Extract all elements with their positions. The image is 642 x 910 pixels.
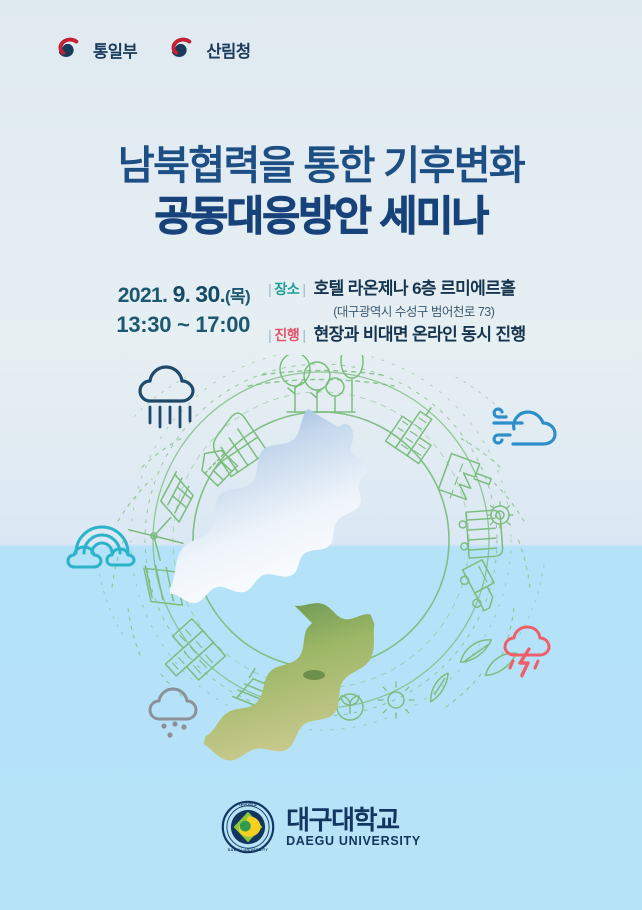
place-value: 호텔 라온제나 6층 르미에르홀 bbox=[314, 278, 516, 300]
wind-cloud-icon bbox=[494, 409, 555, 444]
event-datetime: 2021. 9. 30.(목) 13:30 ~ 17:00 bbox=[116, 278, 250, 339]
korea-government-taeguk-icon bbox=[52, 34, 84, 66]
title-line-2: 공동대응방안 세미나 bbox=[0, 192, 642, 240]
mode-tag: |진행| bbox=[268, 326, 305, 344]
event-location-block: |장소| 호텔 라온제나 6층 르미에르홀 (대구광역시 수성구 범어천로 73… bbox=[268, 278, 525, 346]
svg-text:대구대학교: 대구대학교 bbox=[239, 802, 257, 807]
date-day: 30 bbox=[195, 281, 219, 307]
date-month: 9 bbox=[173, 281, 185, 307]
mode-tag-label: 진행 bbox=[274, 326, 299, 344]
agency-label: 산림청 bbox=[206, 38, 250, 62]
event-info: 2021. 9. 30.(목) 13:30 ~ 17:00 |장소| 호텔 라온… bbox=[0, 278, 642, 346]
university-name-ko: 대구대학교 bbox=[286, 805, 399, 835]
daegu-university-seal-icon: 대구대학교 DAEGU UNIVERSITY bbox=[221, 800, 275, 854]
south-korea-region bbox=[204, 603, 375, 760]
tag-bar-right: | bbox=[302, 280, 305, 298]
place-address: (대구광역시 수성구 범어천로 73) bbox=[268, 301, 525, 320]
mode-row: |진행| 현장과 비대면 온라인 동시 진행 bbox=[268, 324, 525, 346]
mode-value: 현장과 비대면 온라인 동시 진행 bbox=[314, 324, 526, 346]
event-date: 2021. 9. 30.(목) bbox=[116, 279, 250, 310]
place-tag: |장소| bbox=[268, 280, 305, 298]
climate-illustration bbox=[0, 355, 642, 775]
university-branding: 대구대학교 DAEGU UNIVERSITY 대구대학교 DAEGU UNIVE… bbox=[0, 800, 642, 854]
event-time: 13:30 ~ 17:00 bbox=[116, 310, 250, 339]
north-korea-region bbox=[170, 409, 368, 603]
date-weekday: (목) bbox=[225, 287, 250, 306]
tag-bar-right: | bbox=[302, 326, 305, 344]
place-row: |장소| 호텔 라온제나 6층 르미에르홀 bbox=[268, 278, 525, 300]
title-line-1: 남북협력을 통한 기후변화 bbox=[0, 143, 642, 189]
tag-bar-left: | bbox=[268, 280, 271, 298]
tag-bar-left: | bbox=[268, 326, 271, 344]
dust-cloud-icon bbox=[150, 689, 196, 738]
agency-logo-forest-service: 산림청 bbox=[165, 34, 250, 66]
place-tag-label: 장소 bbox=[274, 280, 299, 298]
rain-cloud-icon bbox=[140, 367, 193, 427]
poster-title: 남북협력을 통한 기후변화 공동대응방안 세미나 bbox=[0, 143, 642, 240]
jeju-island bbox=[303, 670, 325, 680]
korean-peninsula-map bbox=[170, 409, 374, 760]
svg-text:DAEGU UNIVERSITY: DAEGU UNIVERSITY bbox=[228, 848, 269, 852]
university-name-block: 대구대학교 DAEGU UNIVERSITY bbox=[286, 807, 421, 848]
rainbow-cloud-icon bbox=[68, 527, 134, 567]
university-name-en: DAEGU UNIVERSITY bbox=[286, 835, 421, 848]
agency-logo-unification: 통일부 bbox=[52, 34, 137, 66]
korea-government-taeguk-icon bbox=[165, 34, 197, 66]
agency-label: 통일부 bbox=[93, 38, 137, 62]
date-year: 2021. bbox=[118, 284, 168, 307]
poster-canvas: 통일부 산림청 남북협력을 통한 기후변화 공동대응방안 세미나 2021. 9… bbox=[0, 0, 642, 910]
date-sep-1: . bbox=[185, 284, 190, 307]
thunderstorm-icon bbox=[505, 627, 549, 676]
government-logo-group: 통일부 산림청 bbox=[52, 34, 251, 66]
